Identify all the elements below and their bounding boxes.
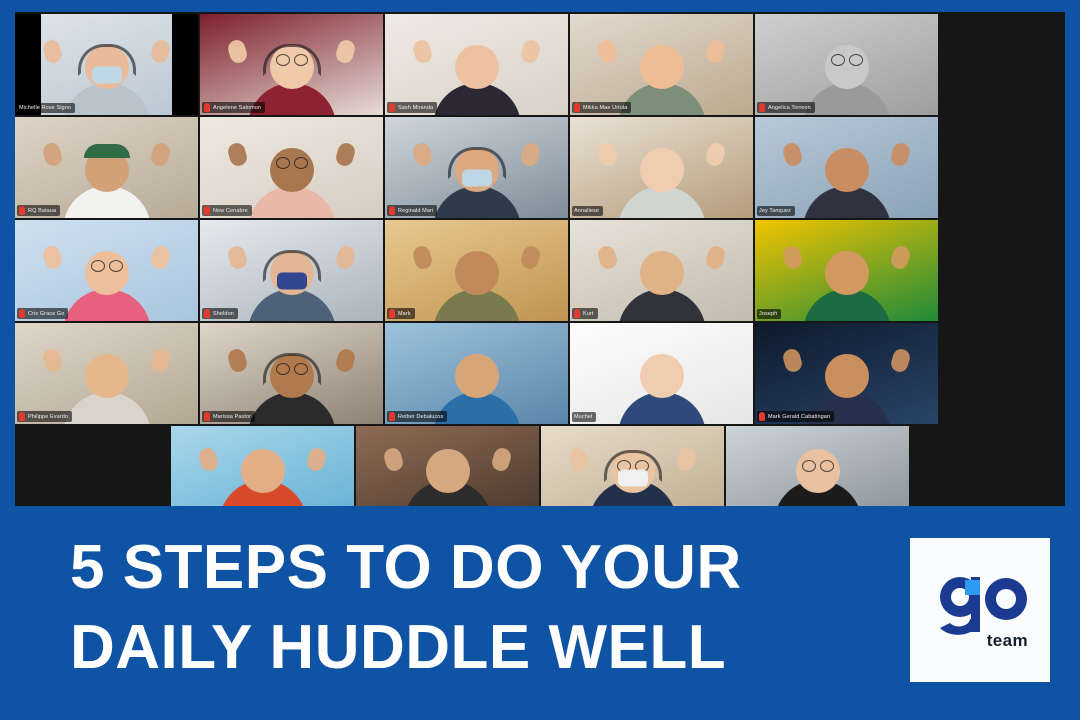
- participant-tile[interactable]: Joseph: [755, 220, 938, 321]
- participant-name-badge: Reiber Debalucos: [387, 411, 447, 422]
- participant-tile[interactable]: [171, 426, 354, 506]
- participant-name-badge: Angelene Salomon: [202, 102, 265, 113]
- logo-subtext: team: [987, 631, 1028, 651]
- participant-tile[interactable]: Michelle Rose Signo: [15, 14, 198, 115]
- participant-name-badge: New Cenabre: [202, 205, 252, 216]
- participant-tile[interactable]: Annaliese: [570, 117, 753, 218]
- participant-tile[interactable]: Mark Gerald Cabatingan: [755, 323, 938, 424]
- participant-name-badge: Muchel: [572, 412, 596, 422]
- cap-icon: [84, 144, 130, 158]
- participant-name-badge: Mark: [387, 308, 415, 319]
- mic-muted-icon: [19, 309, 25, 318]
- participant-name-badge: Reginald Mari: [387, 205, 437, 216]
- participant-face: [825, 354, 869, 398]
- participant-tile[interactable]: Cris Grace Go: [15, 220, 198, 321]
- participant-name: Reiber Debalucos: [398, 413, 443, 421]
- participant-name-badge: RQ Bataua: [17, 205, 60, 216]
- video-conference-screenshot: Michelle Rose SignoAngelene SalomonSash …: [15, 12, 1065, 506]
- participant-name: Angelica Torreon: [768, 104, 811, 112]
- participant-tile[interactable]: Jey Tanquez: [755, 117, 938, 218]
- participant-name: Cris Grace Go: [28, 310, 64, 318]
- participant-face: [455, 354, 499, 398]
- face-mask-icon: [92, 66, 122, 83]
- participant-name-badge: Sheldon: [202, 308, 238, 319]
- participant-tile[interactable]: New Cenabre: [200, 117, 383, 218]
- participant-face: [825, 251, 869, 295]
- participant-name-badge: Mikka Mae Urtola: [572, 102, 631, 113]
- goteam-logo: team: [910, 538, 1050, 682]
- participant-face: [796, 449, 840, 493]
- participant-tile[interactable]: RQ Bataua: [15, 117, 198, 218]
- go-wordmark-icon: team: [930, 571, 1030, 649]
- glasses-icon: [276, 54, 308, 64]
- participant-face: [85, 354, 129, 398]
- participant-tile[interactable]: Kurt: [570, 220, 753, 321]
- participant-name: Angelene Salomon: [213, 104, 261, 112]
- participant-face: [640, 148, 684, 192]
- participant-name: Kurt: [583, 310, 594, 318]
- participant-tile[interactable]: Muchel: [570, 323, 753, 424]
- mic-muted-icon: [759, 412, 765, 421]
- participant-face: [640, 251, 684, 295]
- participant-tile[interactable]: Mark: [385, 220, 568, 321]
- participant-face: [85, 251, 129, 295]
- mic-muted-icon: [574, 103, 580, 112]
- participant-name-badge: Sash Miranda: [387, 102, 437, 113]
- participant-face: [825, 45, 869, 89]
- participant-row: Michelle Rose SignoAngelene SalomonSash …: [15, 14, 1065, 115]
- participant-face: [455, 251, 499, 295]
- face-mask-icon: [618, 469, 648, 486]
- mic-muted-icon: [389, 412, 395, 421]
- participant-name: Mikka Mae Urtola: [583, 104, 627, 112]
- participant-name: Sheldon: [213, 310, 234, 318]
- face-mask-icon: [277, 272, 307, 289]
- page-title: 5 STEPS TO DO YOUR DAILY HUDDLE WELL: [70, 528, 860, 688]
- participant-face: [825, 148, 869, 192]
- mic-muted-icon: [19, 206, 25, 215]
- letterbox-bar: [15, 14, 41, 115]
- participant-name-badge: Cris Grace Go: [17, 308, 68, 319]
- headline-line-2: DAILY HUDDLE WELL: [70, 608, 860, 688]
- participant-name-badge: Jey Tanquez: [757, 206, 795, 216]
- participant-name: Philippe Evardo: [28, 413, 68, 421]
- participant-tile[interactable]: Sash Miranda: [385, 14, 568, 115]
- participant-name-badge: Marissa Pastor: [202, 411, 255, 422]
- participant-face: [241, 449, 285, 493]
- participant-tile[interactable]: [541, 426, 724, 506]
- participant-name: Joseph: [759, 310, 777, 318]
- glasses-icon: [831, 54, 863, 64]
- mic-muted-icon: [204, 309, 210, 318]
- participant-tile[interactable]: Angelene Salomon: [200, 14, 383, 115]
- participant-tile[interactable]: Mikka Mae Urtola: [570, 14, 753, 115]
- letterbox-bar: [172, 14, 198, 115]
- participant-name: Annaliese: [574, 207, 599, 215]
- participant-face: [640, 45, 684, 89]
- participant-tile[interactable]: Sheldon: [200, 220, 383, 321]
- participant-name-badge: Annaliese: [572, 206, 603, 216]
- mic-muted-icon: [204, 412, 210, 421]
- participant-name: Mark: [398, 310, 411, 318]
- participant-face: [426, 449, 470, 493]
- participant-name: Jey Tanquez: [759, 207, 791, 215]
- poster-canvas: Michelle Rose SignoAngelene SalomonSash …: [0, 0, 1080, 720]
- participant-tile[interactable]: Philippe Evardo: [15, 323, 198, 424]
- participant-tile[interactable]: Reiber Debalucos: [385, 323, 568, 424]
- mic-muted-icon: [574, 309, 580, 318]
- glasses-icon: [91, 260, 123, 270]
- participant-name: New Cenabre: [213, 207, 248, 215]
- participant-name-badge: Kurt: [572, 308, 598, 319]
- mic-muted-icon: [389, 103, 395, 112]
- participant-face: [640, 354, 684, 398]
- glasses-icon: [276, 363, 308, 373]
- participant-tile[interactable]: Angelica Torreon: [755, 14, 938, 115]
- participant-row: RQ BatauaNew CenabreReginald MariAnnalie…: [15, 117, 1065, 218]
- mic-muted-icon: [389, 206, 395, 215]
- participant-name: Marissa Pastor: [213, 413, 251, 421]
- participant-name: Muchel: [574, 413, 592, 421]
- mic-muted-icon: [759, 103, 765, 112]
- participant-row: Cris Grace GoSheldonMarkKurtJoseph: [15, 220, 1065, 321]
- participant-tile[interactable]: [356, 426, 539, 506]
- participant-name: Reginald Mari: [398, 207, 433, 215]
- glasses-icon: [802, 460, 834, 470]
- participant-name-badge: Michelle Rose Signo: [17, 103, 75, 113]
- face-mask-icon: [462, 169, 492, 186]
- participant-tile[interactable]: Reginald Mari: [385, 117, 568, 218]
- participant-face: [455, 45, 499, 89]
- participant-grid: Michelle Rose SignoAngelene SalomonSash …: [15, 12, 1065, 506]
- glasses-icon: [276, 157, 308, 167]
- mic-muted-icon: [204, 103, 210, 112]
- participant-row: Philippe EvardoMarissa PastorReiber Deba…: [15, 323, 1065, 424]
- participant-name-badge: Philippe Evardo: [17, 411, 72, 422]
- participant-tile[interactable]: Marissa Pastor: [200, 323, 383, 424]
- participant-name-badge: Mark Gerald Cabatingan: [757, 411, 834, 422]
- participant-name-badge: Angelica Torreon: [757, 102, 815, 113]
- participant-name-badge: Joseph: [757, 309, 781, 319]
- participant-name: Sash Miranda: [398, 104, 433, 112]
- mic-muted-icon: [389, 309, 395, 318]
- participant-name: Mark Gerald Cabatingan: [768, 413, 830, 421]
- participant-row: [15, 426, 1065, 506]
- participant-name: RQ Bataua: [28, 207, 56, 215]
- headline-line-1: 5 STEPS TO DO YOUR: [70, 533, 742, 602]
- participant-name: Michelle Rose Signo: [19, 104, 71, 112]
- mic-muted-icon: [19, 412, 25, 421]
- participant-face: [270, 148, 314, 192]
- participant-tile[interactable]: [726, 426, 909, 506]
- mic-muted-icon: [204, 206, 210, 215]
